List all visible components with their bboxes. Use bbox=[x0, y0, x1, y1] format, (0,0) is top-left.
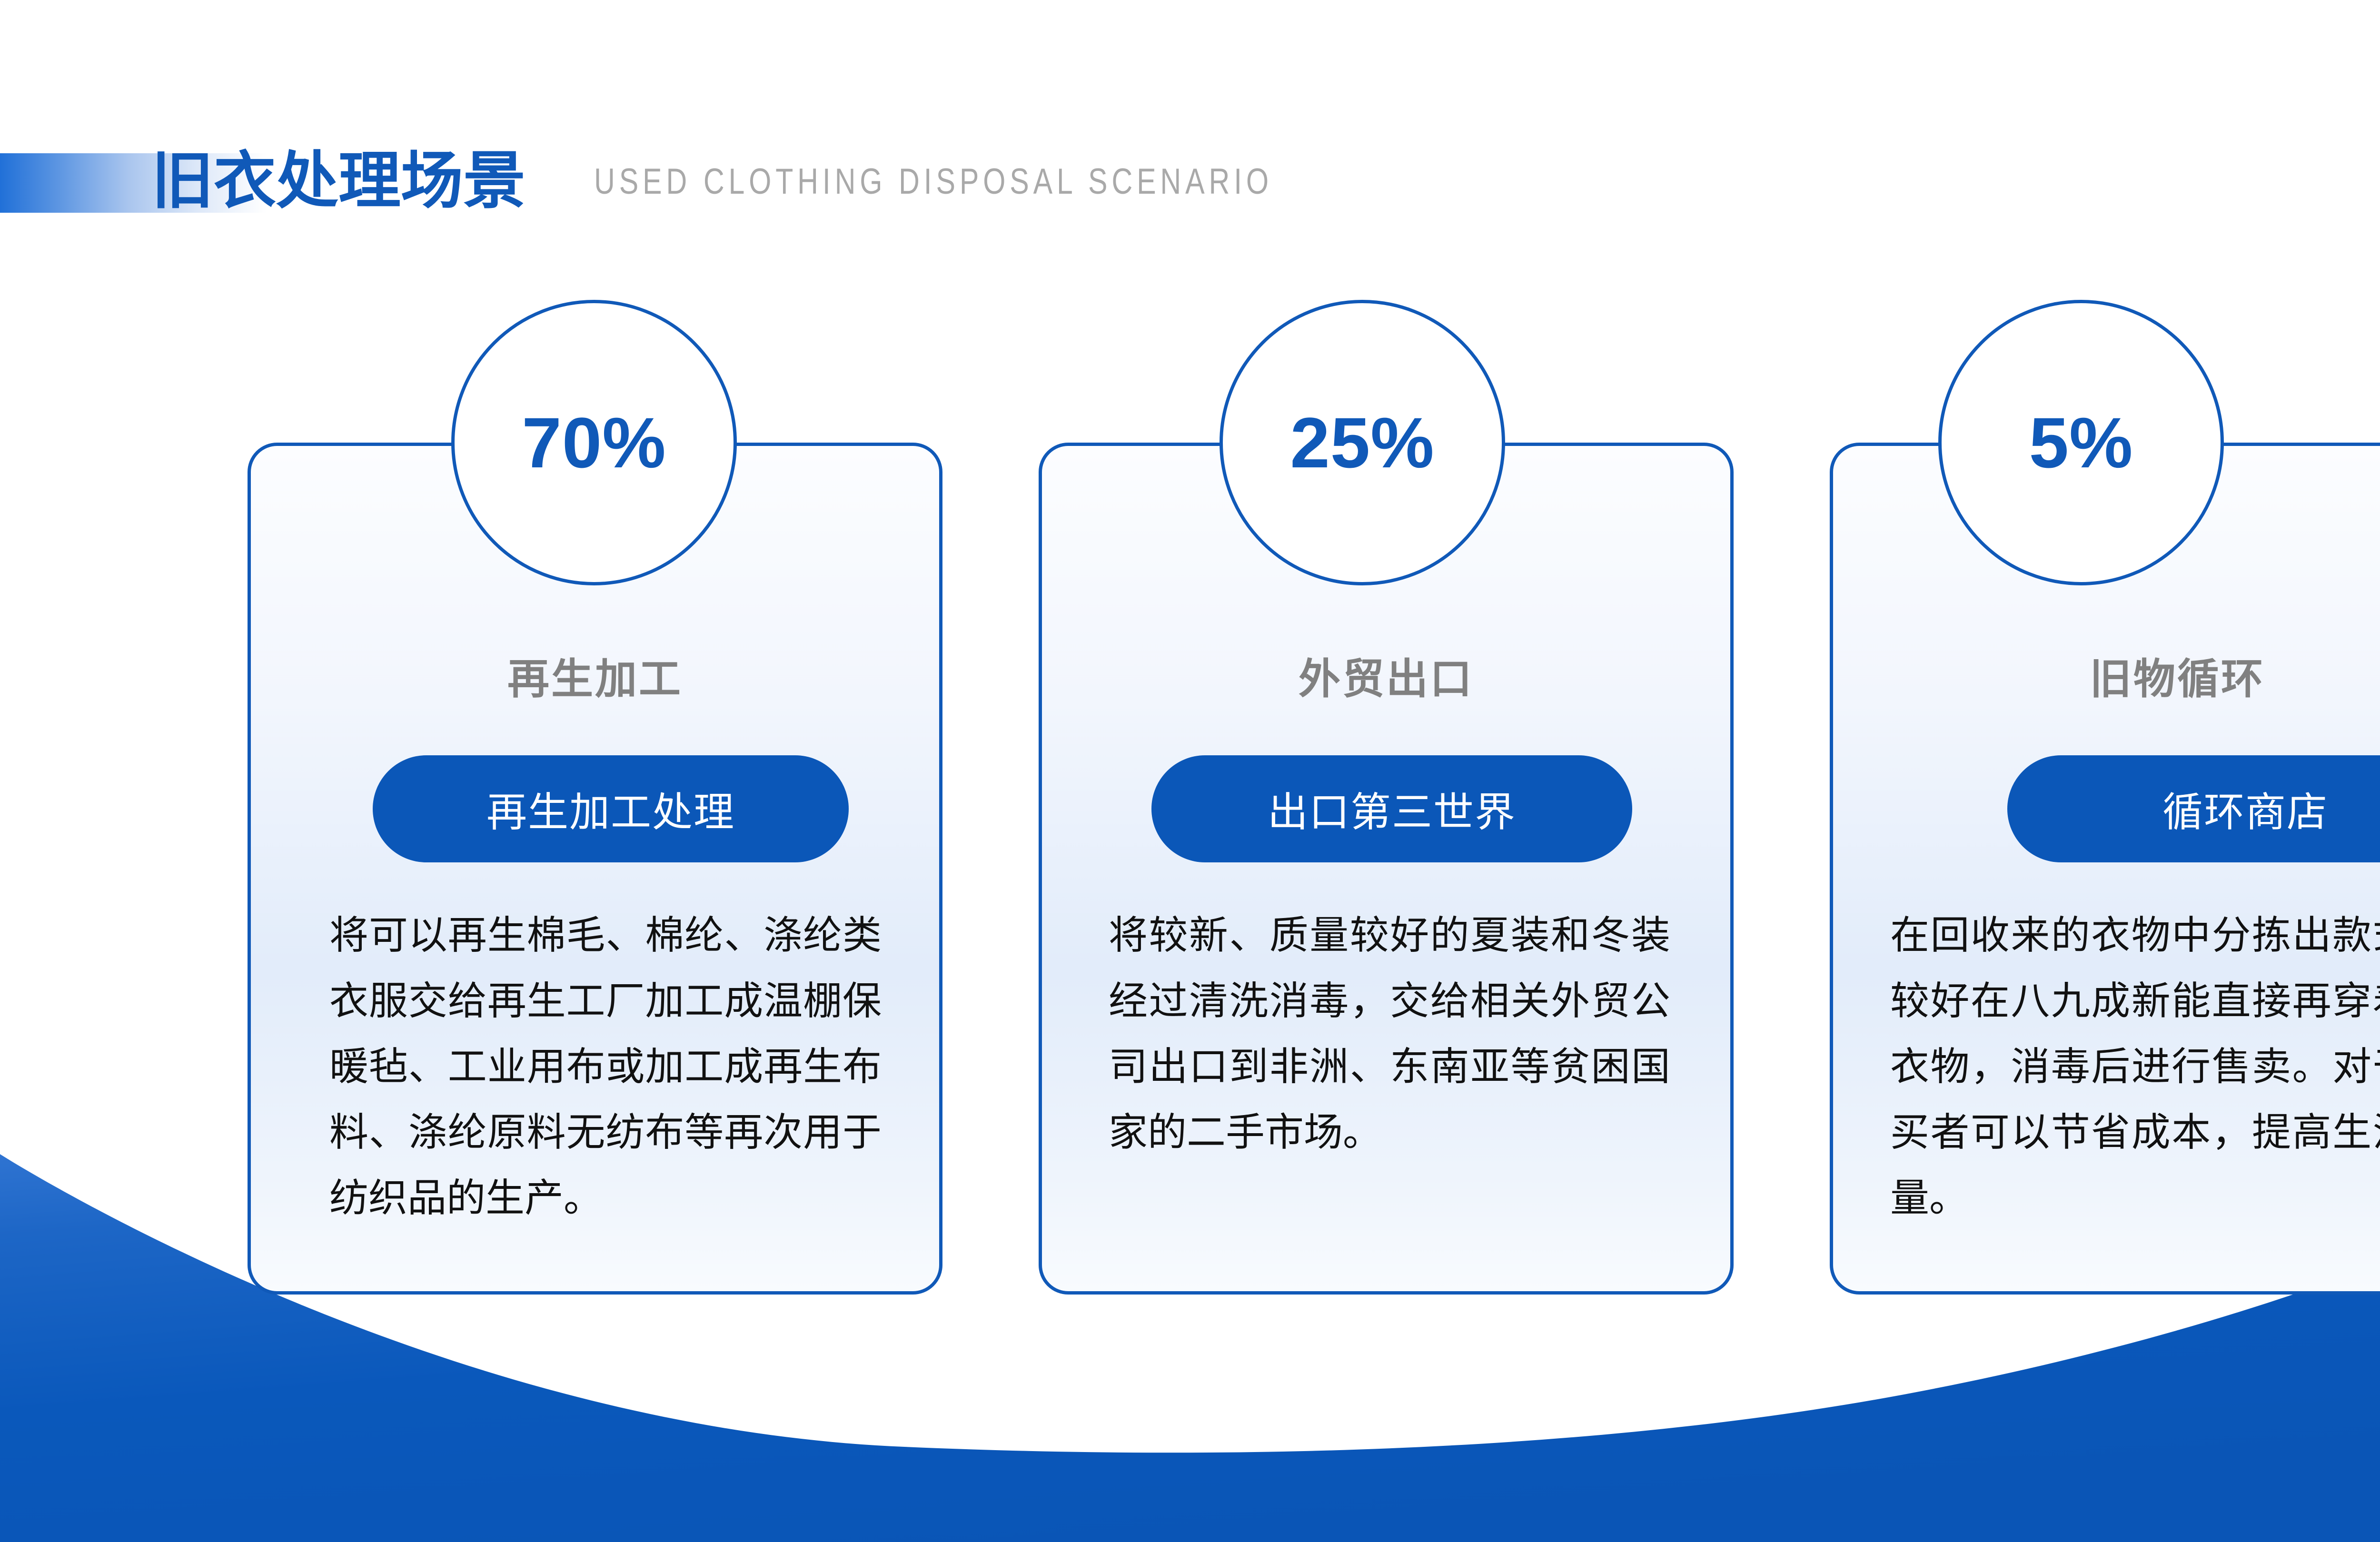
slide-canvas: 旧衣处理场景 USED CLOTHING DISPOSAL SCENARIO 再… bbox=[0, 0, 2380, 1542]
percent-badge-recycling: 70% bbox=[451, 300, 737, 585]
card-body-text: 在回收来的衣物中分拣出款式比较好在八九成新能直接再穿着的衣物，消毒后进行售卖。对… bbox=[1890, 903, 2380, 1231]
card-pill-button[interactable]: 出口第三世界 bbox=[1151, 755, 1632, 862]
card-pill-button[interactable]: 再生加工处理 bbox=[373, 755, 849, 862]
page-subtitle: USED CLOTHING DISPOSAL SCENARIO bbox=[594, 158, 1273, 206]
scenario-card-list: 再生加工 再生加工处理 将可以再生棉毛、棉纶、涤纶类衣服交给再生工厂加工成温棚保… bbox=[0, 0, 2380, 1542]
card-title: 旧物循环 bbox=[1833, 655, 2380, 703]
card-pill-button[interactable]: 循环商店 bbox=[2007, 755, 2380, 862]
percent-badge-export: 25% bbox=[1220, 300, 1505, 585]
percent-value: 25% bbox=[1290, 407, 1434, 478]
slide-header: 旧衣处理场景 USED CLOTHING DISPOSAL SCENARIO bbox=[0, 143, 2380, 224]
card-body-text: 将较新、质量较好的夏装和冬装经过清洗消毒，交给相关外贸公司出口到非洲、东南亚等贫… bbox=[1109, 903, 1670, 1166]
card-body-text: 将可以再生棉毛、棉纶、涤纶类衣服交给再生工厂加工成温棚保暖毡、工业用布或加工成再… bbox=[329, 903, 882, 1231]
percent-value: 70% bbox=[522, 407, 666, 478]
card-title: 外贸出口 bbox=[1042, 655, 1730, 703]
percent-value: 5% bbox=[2029, 407, 2133, 478]
card-title: 再生加工 bbox=[251, 655, 939, 703]
page-title: 旧衣处理场景 bbox=[151, 143, 526, 219]
percent-badge-reuse: 5% bbox=[1938, 300, 2224, 585]
